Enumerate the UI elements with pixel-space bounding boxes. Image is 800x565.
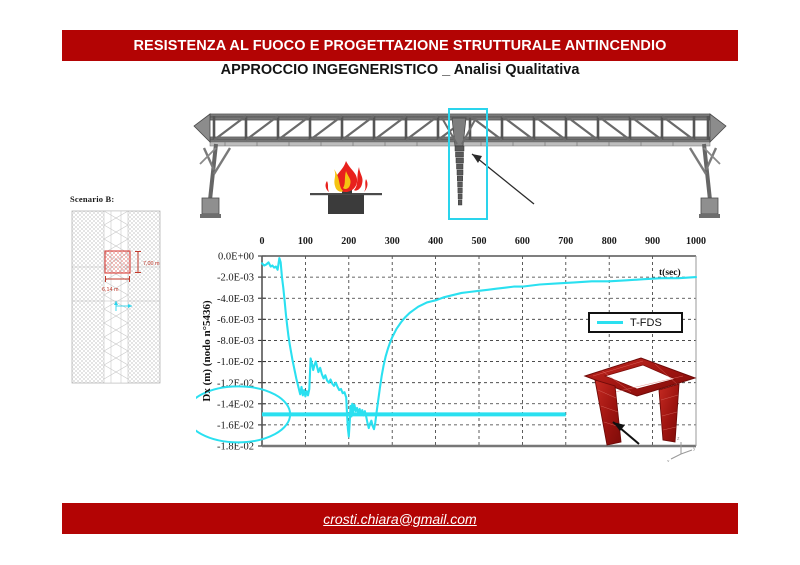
- x-tick-label: 0: [260, 236, 265, 247]
- x-tick-label: 500: [472, 236, 487, 247]
- dimension-vertical-label: 7,00 m: [143, 261, 160, 267]
- page-title: RESISTENZA AL FUOCO E PROGETTAZIONE STRU…: [133, 38, 666, 54]
- dimension-horizontal-label: 6,14 m: [102, 287, 119, 293]
- y-tick-label: -6.0E-03: [217, 315, 254, 326]
- contact-email[interactable]: crosti.chiara@gmail.com: [323, 511, 476, 527]
- slide-root: RESISTENZA AL FUOCO E PROGETTAZIONE STRU…: [0, 0, 800, 565]
- svg-text:z: z: [677, 436, 680, 442]
- svg-text:y: y: [693, 446, 696, 452]
- y-tick-label: -1.0E-02: [217, 357, 254, 368]
- y-tick-label: -4.0E-03: [217, 294, 254, 305]
- footer-banner: crosti.chiara@gmail.com: [62, 503, 738, 534]
- fem-deformed-shape: z y x: [571, 346, 709, 462]
- support-leg-left: [200, 144, 230, 218]
- y-tick-label: -8.0E-03: [217, 336, 254, 347]
- x-tick-label: 300: [385, 236, 400, 247]
- x-tick-label: 800: [602, 236, 617, 247]
- chart-legend: T-FDS: [588, 312, 683, 333]
- right-leg: [659, 384, 679, 442]
- y-axis-label: Dx (m) (nodo n°5436): [201, 300, 213, 402]
- y-tick-label: -1.6E-02: [217, 420, 254, 431]
- x-tick-label: 1000: [686, 236, 706, 247]
- x-tick-label: 100: [298, 236, 313, 247]
- y-tick-label: -1.4E-02: [217, 399, 254, 410]
- title-banner: RESISTENZA AL FUOCO E PROGETTAZIONE STRU…: [62, 30, 738, 61]
- x-tick-label: 600: [515, 236, 530, 247]
- flame-glyph: [326, 161, 368, 192]
- fire-source-icon: [302, 157, 390, 219]
- left-leg: [595, 380, 621, 445]
- pier-highlight-box: [448, 108, 488, 220]
- y-tick-label: 0.0E+00: [218, 252, 254, 263]
- y-tick-label: -2.0E-03: [217, 273, 254, 284]
- x-tick-label: 700: [558, 236, 573, 247]
- scenario-label: Scenario B:: [70, 194, 114, 204]
- legend-swatch-t-fds: [597, 321, 623, 324]
- scenario-plan-mesh: 7,00 m 6,14 m: [70, 209, 162, 385]
- support-leg-right: [690, 144, 720, 218]
- legend-label-t-fds: T-FDS: [630, 317, 662, 329]
- x-tick-label: 400: [428, 236, 443, 247]
- x-axis-label: t(sec): [659, 268, 681, 278]
- svg-text:x: x: [667, 459, 670, 462]
- page-subtitle: APPROCCIO INGEGNERISTICO _ Analisi Quali…: [0, 62, 800, 78]
- x-tick-label: 900: [645, 236, 660, 247]
- x-tick-label: 200: [341, 236, 356, 247]
